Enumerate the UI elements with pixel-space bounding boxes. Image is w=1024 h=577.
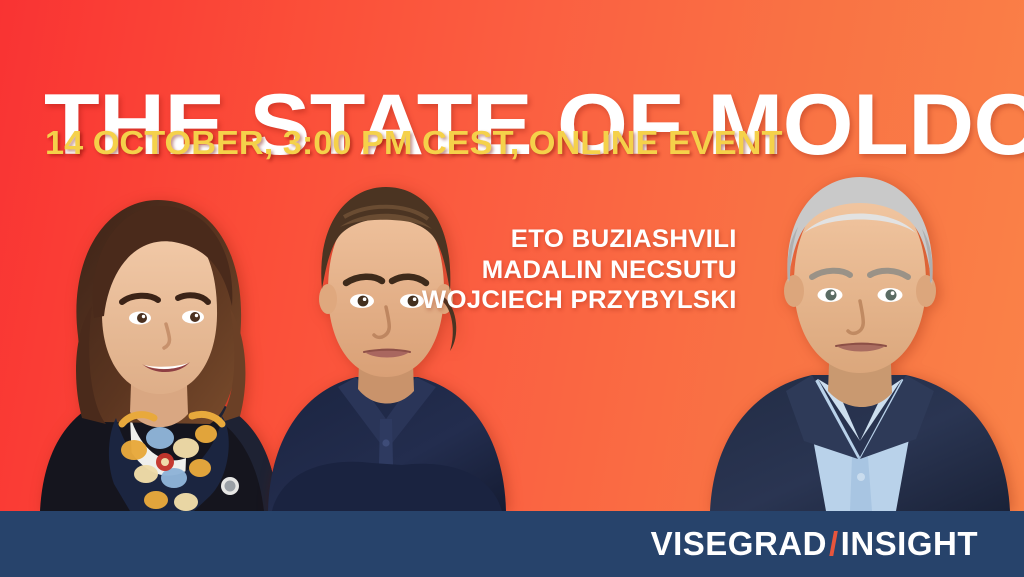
speaker-name-list: ETO BUZIASHVILI MADALIN NECSUTU WOJCIECH…	[422, 224, 737, 316]
event-promo-poster: THE STATE OF MOLDOVA 14 OCTOBER, 3:00 PM…	[0, 0, 1024, 577]
speaker-portrait-wojciech-przybylski	[700, 141, 1020, 511]
speaker-name: WOJCIECH PRZYBYLSKI	[422, 285, 737, 316]
visegrad-insight-logo: VISEGRAD/INSIGHT	[651, 525, 978, 563]
logo-secondary-text: INSIGHT	[841, 525, 978, 562]
speaker-name: ETO BUZIASHVILI	[422, 224, 737, 255]
speaker-portrait-eto-buziashvili	[34, 166, 282, 511]
speaker-portrait-madalin-necsutu	[252, 151, 520, 511]
footer-brand-bar: VISEGRAD/INSIGHT	[0, 511, 1024, 577]
speaker-name: MADALIN NECSUTU	[422, 255, 737, 286]
logo-primary-text: VISEGRAD	[651, 525, 827, 562]
logo-separator: /	[827, 525, 841, 562]
